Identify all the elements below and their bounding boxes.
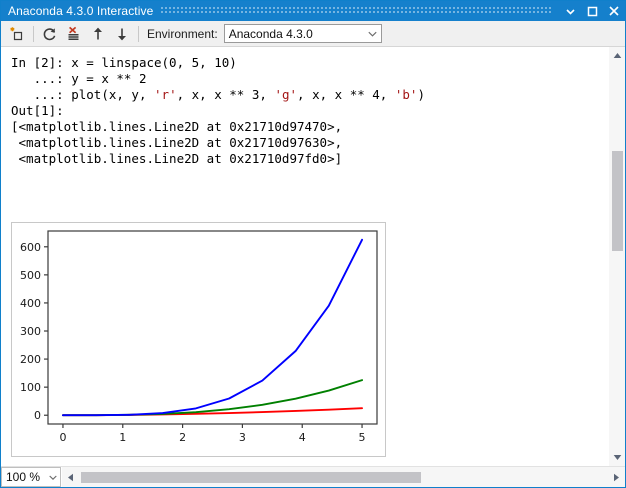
x-tick-label: 0	[59, 431, 66, 444]
y-tick-label: 300	[20, 325, 41, 338]
x-tick-label: 2	[179, 431, 186, 444]
y-tick-label: 200	[20, 353, 41, 366]
title-bar: Anaconda 4.3.0 Interactive	[1, 1, 625, 21]
figure-canvas: 0100200300400500600012345	[12, 223, 385, 456]
console-text: x = linspace(0, 5, 10)	[71, 55, 237, 70]
toolbar-separator-2	[138, 26, 139, 42]
new-cell-icon[interactable]	[5, 23, 29, 45]
console-text: plot(x, y,	[71, 87, 154, 102]
console-line-prefix: In [2]:	[11, 55, 71, 70]
console-line: Out[1]:	[11, 103, 425, 119]
console-text: <matplotlib.lines.Line2D at 0x21710d9763…	[11, 135, 342, 150]
console-output-area[interactable]: In [2]: x = linspace(0, 5, 10) ...: y = …	[1, 47, 608, 466]
scroll-right-arrow-icon[interactable]	[608, 468, 625, 487]
y-tick-label: 600	[20, 241, 41, 254]
string-literal: 'b'	[395, 87, 418, 102]
chevron-down-icon[interactable]	[365, 25, 381, 42]
title-bar-grip[interactable]	[161, 7, 551, 15]
x-tick-label: 1	[119, 431, 126, 444]
console-text: )	[417, 87, 425, 102]
console-line: <matplotlib.lines.Line2D at 0x21710d97fd…	[11, 151, 425, 167]
toolbar-separator-1	[33, 26, 34, 42]
maximize-icon[interactable]	[581, 1, 603, 21]
y-tick-label: 0	[34, 409, 41, 422]
vertical-scrollbar-thumb[interactable]	[612, 151, 623, 251]
horizontal-scrollbar-thumb[interactable]	[81, 472, 421, 483]
console-line-prefix: ...:	[11, 87, 71, 102]
window-title: Anaconda 4.3.0 Interactive	[1, 4, 153, 18]
scroll-up-arrow-icon[interactable]	[609, 47, 626, 64]
console-line: <matplotlib.lines.Line2D at 0x21710d9763…	[11, 135, 425, 151]
console-text: Out[1]:	[11, 103, 64, 118]
horizontal-scrollbar[interactable]	[61, 467, 625, 487]
close-icon[interactable]	[603, 1, 625, 21]
console-line: ...: y = x ** 2	[11, 71, 425, 87]
x-tick-label: 3	[239, 431, 246, 444]
zoom-level-value: 100 %	[2, 470, 46, 484]
console-text: y = x ** 2	[71, 71, 146, 86]
arrow-down-icon[interactable]	[110, 23, 134, 45]
x-tick-label: 4	[299, 431, 306, 444]
reset-icon[interactable]	[38, 23, 62, 45]
status-bar: 100 %	[1, 466, 625, 487]
toolbar: Environment: Anaconda 4.3.0	[1, 21, 625, 47]
console-text: [<matplotlib.lines.Line2D at 0x21710d974…	[11, 119, 342, 134]
horizontal-scrollbar-track[interactable]	[79, 468, 608, 487]
console-text: <matplotlib.lines.Line2D at 0x21710d97fd…	[11, 151, 342, 166]
scroll-down-arrow-icon[interactable]	[609, 449, 626, 466]
chevron-down-icon[interactable]	[46, 475, 60, 480]
y-tick-label: 400	[20, 297, 41, 310]
chevron-down-icon[interactable]	[559, 1, 581, 21]
vertical-scrollbar[interactable]	[608, 47, 625, 466]
console-line: ...: plot(x, y, 'r', x, x ** 3, 'g', x, …	[11, 87, 425, 103]
scroll-left-arrow-icon[interactable]	[62, 468, 79, 487]
console-text: , x, x ** 4,	[297, 87, 395, 102]
console-line: [<matplotlib.lines.Line2D at 0x21710d974…	[11, 119, 425, 135]
console-transcript: In [2]: x = linspace(0, 5, 10) ...: y = …	[11, 55, 425, 167]
y-tick-label: 500	[20, 269, 41, 282]
environment-value: Anaconda 4.3.0	[225, 27, 365, 41]
string-literal: 'r'	[154, 87, 177, 102]
clear-icon[interactable]	[62, 23, 86, 45]
y-tick-label: 100	[20, 381, 41, 394]
environment-select[interactable]: Anaconda 4.3.0	[224, 24, 382, 43]
x-tick-label: 5	[359, 431, 366, 444]
console-line: In [2]: x = linspace(0, 5, 10)	[11, 55, 425, 71]
console-line-prefix: ...:	[11, 71, 71, 86]
zoom-level-select[interactable]: 100 %	[1, 467, 61, 487]
console-body: In [2]: x = linspace(0, 5, 10) ...: y = …	[1, 47, 625, 466]
interactive-window: Anaconda 4.3.0 Interactive	[0, 0, 626, 488]
arrow-up-icon[interactable]	[86, 23, 110, 45]
matplotlib-figure: 0100200300400500600012345	[11, 222, 386, 457]
string-literal: 'g'	[274, 87, 297, 102]
console-text: , x, x ** 3,	[177, 87, 275, 102]
environment-label: Environment:	[147, 27, 218, 41]
